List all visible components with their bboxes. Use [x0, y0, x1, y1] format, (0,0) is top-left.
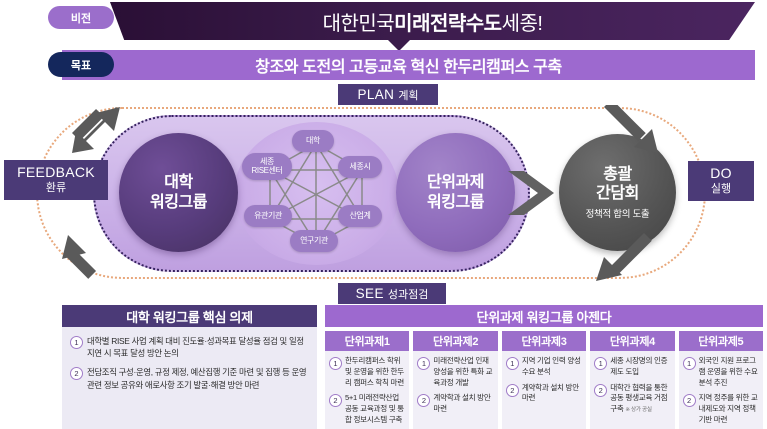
- feedback-arrow-down-icon: [60, 233, 122, 285]
- list-item: 1 한두리캠퍼스 학위 및 운영을 위한 한두리 캠퍼스 학칙 마련: [329, 356, 405, 388]
- vision-badge: 비전: [48, 6, 114, 29]
- bullet-text: 대학간 협력을 통한 공동 평생교육 거점 구축 ※ 상가 공실: [610, 383, 670, 416]
- bullet-text: 지역 기업 인력 양성 수요 분석: [522, 356, 582, 378]
- circle-summit-line1: 총괄: [603, 165, 631, 185]
- bullet-number: 2: [329, 394, 342, 407]
- vision-title: 대한민국 미래전략수도 세종!: [110, 2, 755, 40]
- hex-node-univ-label: 대학: [306, 137, 320, 146]
- list-item: 2 대학간 협력을 통한 공동 평생교육 거점 구축 ※ 상가 공실: [594, 383, 670, 416]
- circle-univ-line1: 대학: [164, 173, 192, 193]
- do-label-ko: 실행: [711, 183, 731, 197]
- right-panel-title: 단위과제 워킹그룹 아젠다: [325, 305, 763, 327]
- bullet-number: 2: [70, 367, 83, 380]
- list-item: 1 미래전략산업 인재양성을 위한 특화 교육과정 개발: [417, 356, 493, 388]
- feedback-label-en: FEEDBACK: [17, 164, 95, 182]
- bullet-text: 미래전략산업 인재양성을 위한 특화 교육과정 개발: [433, 356, 493, 388]
- do-label-en: DO: [710, 165, 732, 183]
- bullet-text: 계약학과 설치 방안 마련: [433, 393, 493, 415]
- right-arrow-icon: [508, 167, 566, 219]
- list-item: 1 대학별 RISE 사업 계획 대비 진도율·성과목표 달성율 점검 및 일정…: [70, 335, 309, 359]
- bullet-number: 2: [594, 384, 607, 397]
- list-item: 2 5+1 미래전략산업 공동 교육과정 및 통합 정보시스템 구축: [329, 393, 405, 425]
- left-panel-body: 1 대학별 RISE 사업 계획 대비 진도율·성과목표 달성율 점검 및 일정…: [62, 327, 317, 429]
- feedback-label-ko: 환류: [46, 182, 66, 196]
- bullet-text: 외국인 지원 프로그램 운영을 위한 수요 분석 추진: [699, 356, 759, 388]
- hex-node-rise-center-label: 세종 RISE센터: [252, 158, 283, 176]
- bullet-number: 1: [683, 357, 696, 370]
- task-column-1: 단위과제1 1 한두리캠퍼스 학위 및 운영을 위한 한두리 캠퍼스 학칙 마련…: [325, 331, 409, 429]
- list-item: 1 세종 시장명의 인증제도 도입: [594, 356, 670, 378]
- task-column-2-body: 1 미래전략산업 인재양성을 위한 특화 교육과정 개발 2 계약학과 설치 방…: [413, 351, 497, 429]
- task-column-5-body: 1 외국인 지원 프로그램 운영을 위한 수요 분석 추진 2 지역 정주를 위…: [679, 351, 763, 429]
- bullet-number: 1: [329, 357, 342, 370]
- bullet-text: 대학별 RISE 사업 계획 대비 진도율·성과목표 달성율 점검 및 일정 지…: [87, 335, 309, 359]
- task-column-1-body: 1 한두리캠퍼스 학위 및 운영을 위한 한두리 캠퍼스 학칙 마련 2 5+1…: [325, 351, 409, 429]
- left-panel: 대학 워킹그룹 핵심 의제 1 대학별 RISE 사업 계획 대비 진도율·성과…: [62, 305, 317, 429]
- feedback-arrow-up-icon: [60, 105, 122, 157]
- feedback-box: FEEDBACK 환류: [4, 160, 108, 200]
- hex-node-univ: 대학: [292, 130, 334, 152]
- hex-node-research: 연구기관: [290, 230, 338, 252]
- do-arrow-down-left-icon: [592, 233, 662, 285]
- list-item: 2 계약학과 설치 방안 마련: [417, 393, 493, 415]
- bullet-text: 세종 시장명의 인증제도 도입: [610, 356, 670, 378]
- bullet-number: 2: [506, 384, 519, 397]
- task-column-5: 단위과제5 1 외국인 지원 프로그램 운영을 위한 수요 분석 추진 2 지역…: [679, 331, 763, 429]
- hex-node-research-label: 연구기관: [300, 237, 328, 246]
- hex-node-industry-label: 산업계: [350, 212, 371, 221]
- tab-see-ko: 성과점검: [388, 286, 428, 302]
- hex-node-related-org: 유관기관: [244, 205, 292, 227]
- infographic-root: 대한민국 미래전략수도 세종! 비전 창조와 도전의 고등교육 혁신 한두리캠퍼…: [0, 0, 767, 429]
- left-panel-title: 대학 워킹그룹 핵심 의제: [62, 305, 317, 327]
- goal-badge: 목표: [48, 52, 114, 77]
- bullet-number: 1: [417, 357, 430, 370]
- bullet-number: 1: [70, 336, 83, 349]
- list-item: 2 계약학과 설치 방안 마련: [506, 383, 582, 405]
- bullet-text: 5+1 미래전략산업 공동 교육과정 및 통합 정보시스템 구축: [345, 393, 405, 425]
- right-panel: 단위과제 워킹그룹 아젠다 단위과제1 1 한두리캠퍼스 학위 및 운영을 위한…: [325, 305, 763, 429]
- tab-see-en: SEE: [356, 286, 384, 301]
- bullet-number: 2: [417, 394, 430, 407]
- bullet-number: 2: [683, 394, 696, 407]
- circle-summit-subtitle: 정책적 합의 도출: [586, 209, 650, 221]
- hex-node-industry: 산업계: [338, 205, 382, 227]
- bullet-number: 1: [506, 357, 519, 370]
- task-column-4-header: 단위과제4: [590, 331, 674, 351]
- circle-task-working-group: 단위과제 워킹그룹: [396, 133, 515, 252]
- task-column-2-header: 단위과제2: [413, 331, 497, 351]
- list-item: 1 지역 기업 인력 양성 수요 분석: [506, 356, 582, 378]
- tab-plan-en: PLAN: [357, 87, 394, 102]
- circle-university-working-group: 대학 워킹그룹: [119, 133, 238, 252]
- list-item: 2 지역 정주를 위한 교내제도와 지역 정책 기반 마련: [683, 393, 759, 425]
- task-column-2: 단위과제2 1 미래전략산업 인재양성을 위한 특화 교육과정 개발 2 계약학…: [413, 331, 497, 429]
- circle-task-line2: 워킹그룹: [427, 193, 484, 213]
- task-column-4: 단위과제4 1 세종 시장명의 인증제도 도입 2 대학간 협력을 통한 공동 …: [590, 331, 674, 429]
- bullet-text: 계약학과 설치 방안 마련: [522, 383, 582, 405]
- bullet-number: 1: [594, 357, 607, 370]
- list-item: 2 전담조직 구성·운영, 규정 제정, 예산집행 기준 마련 및 집행 등 운…: [70, 366, 309, 390]
- hex-node-sejong-city: 세종시: [338, 156, 382, 178]
- vision-prefix: 대한민국: [323, 7, 395, 36]
- vision-suffix: 세종!: [502, 7, 543, 36]
- hex-node-rise-center: 세종 RISE센터: [242, 153, 292, 180]
- bullet-text: 지역 정주를 위한 교내제도와 지역 정책 기반 마련: [699, 393, 759, 425]
- circle-task-line1: 단위과제: [427, 173, 484, 193]
- task-columns: 단위과제1 1 한두리캠퍼스 학위 및 운영을 위한 한두리 캠퍼스 학칙 마련…: [325, 331, 763, 429]
- goal-title: 창조와 도전의 고등교육 혁신 한두리캠퍼스 구축: [62, 50, 755, 80]
- tab-plan-ko: 계획: [398, 87, 418, 103]
- hex-node-sejong-city-label: 세종시: [350, 163, 371, 172]
- tab-plan: PLAN 계획: [338, 84, 438, 105]
- circle-univ-line2: 워킹그룹: [150, 193, 207, 213]
- tab-see: SEE 성과점검: [338, 283, 446, 304]
- bullet-text: 전담조직 구성·운영, 규정 제정, 예산집행 기준 마련 및 집행 등 운영 …: [87, 366, 309, 390]
- task-column-3: 단위과제3 1 지역 기업 인력 양성 수요 분석 2 계약학과 설치 방안 마…: [502, 331, 586, 429]
- task-column-1-header: 단위과제1: [325, 331, 409, 351]
- task-column-5-header: 단위과제5: [679, 331, 763, 351]
- list-item: 1 외국인 지원 프로그램 운영을 위한 수요 분석 추진: [683, 356, 759, 388]
- do-arrow-down-right-icon: [592, 105, 662, 157]
- do-box: DO 실행: [688, 161, 754, 201]
- hex-node-related-org-label: 유관기관: [254, 212, 282, 221]
- bullet-note: ※ 상가 공실: [625, 407, 651, 413]
- cycle-diagram: 대학 세종시 산업계 연구기관 유관기관 세종 RISE센터 대학 워킹그룹 단…: [0, 105, 767, 285]
- task-column-4-body: 1 세종 시장명의 인증제도 도입 2 대학간 협력을 통한 공동 평생교육 거…: [590, 351, 674, 429]
- bullet-text: 한두리캠퍼스 학위 및 운영을 위한 한두리 캠퍼스 학칙 마련: [345, 356, 405, 388]
- circle-summit-line2: 간담회: [596, 184, 639, 204]
- task-column-3-header: 단위과제3: [502, 331, 586, 351]
- task-column-3-body: 1 지역 기업 인력 양성 수요 분석 2 계약학과 설치 방안 마련: [502, 351, 586, 429]
- vision-highlight: 미래전략수도: [394, 7, 501, 36]
